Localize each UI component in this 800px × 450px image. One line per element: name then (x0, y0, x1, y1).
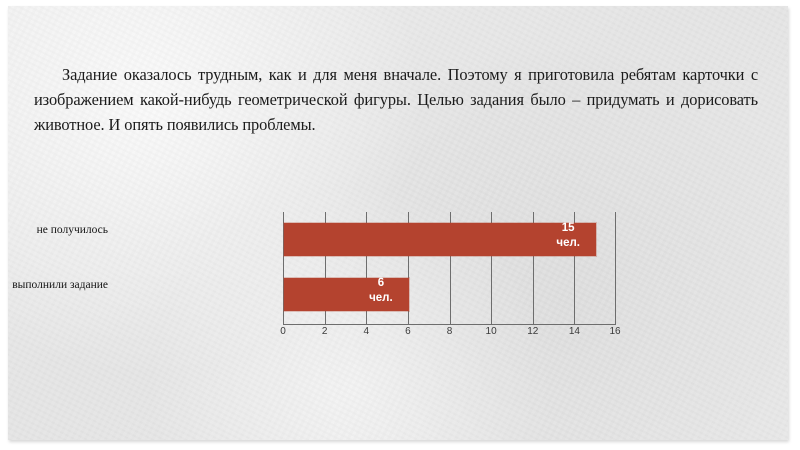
chart-xtick-12: 12 (527, 326, 538, 337)
chart-xtick-6: 6 (405, 326, 411, 337)
chart-bar-1[interactable]: 6 чел. (284, 278, 409, 311)
chart-xtick-14: 14 (569, 326, 580, 337)
slide-canvas: Задание оказалось трудным, как и для мен… (8, 6, 788, 440)
chart-bar-0[interactable]: 15 чел. (284, 223, 596, 256)
chart-xtick-16: 16 (609, 326, 620, 337)
chart-x-axis (283, 324, 616, 325)
chart-xtick-4: 4 (364, 326, 370, 337)
chart-bar-value-0: 15 чел. (546, 221, 590, 251)
chart-xtick-10: 10 (486, 326, 497, 337)
chart-xtick-8: 8 (447, 326, 453, 337)
chart-bar-value-1: 6 чел. (359, 276, 403, 306)
chart-plot-area: 15 чел. 6 чел. 0 2 4 6 8 10 12 14 16 (283, 212, 616, 324)
bar-chart: не получилось выполнили задание 15 чел. … (118, 202, 638, 342)
chart-xtick-0: 0 (280, 326, 286, 337)
chart-xtick-2: 2 (322, 326, 328, 337)
slide-paragraph: Задание оказалось трудным, как и для мен… (34, 62, 758, 137)
chart-category-label-1: выполнили задание (8, 279, 118, 291)
chart-gridline-16 (615, 212, 616, 324)
chart-category-label-0: не получилось (8, 224, 118, 236)
